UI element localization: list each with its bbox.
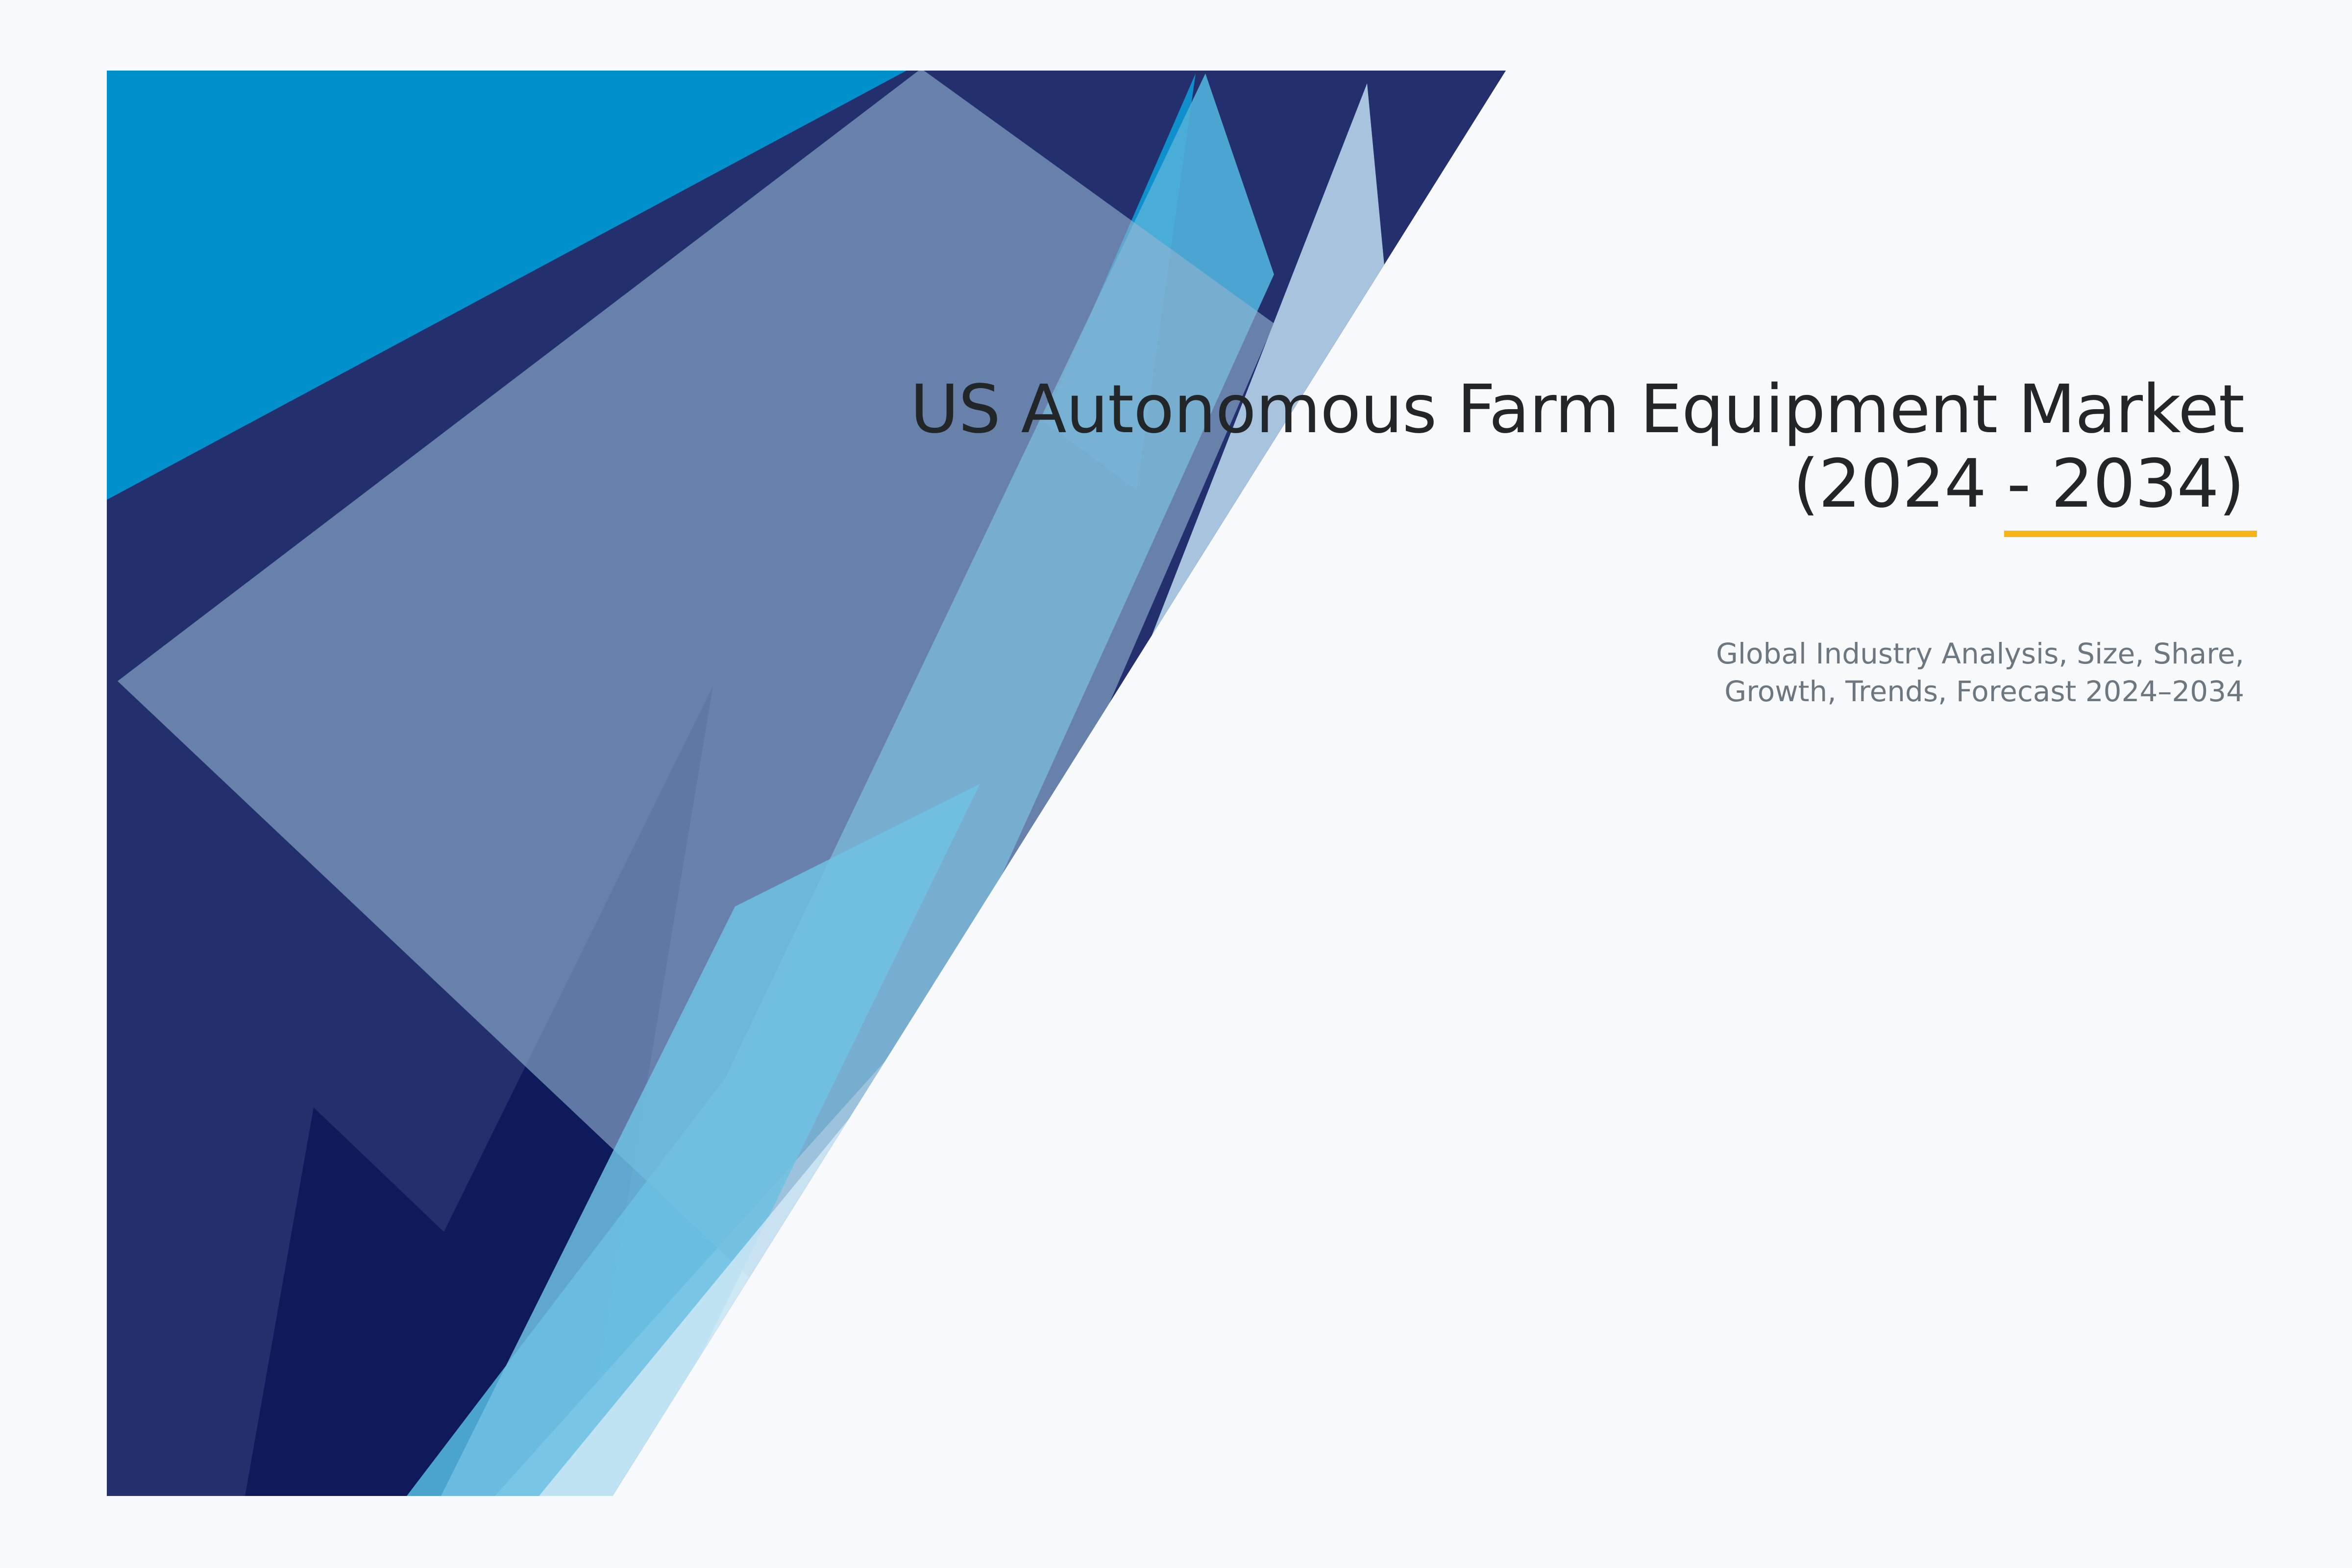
shape-light-cyan-ribbon bbox=[407, 73, 1274, 1496]
shape-mid-blue-ribbon-bottom bbox=[441, 784, 980, 1496]
page-title-line-1: US Autonomous Farm Equipment Market bbox=[910, 371, 2244, 448]
page-subtitle: Global Industry Analysis, Size, Share,Gr… bbox=[1421, 635, 2244, 710]
shape-deep-navy-spike bbox=[314, 686, 713, 1496]
page-title-line-2: (2024 - 2034) bbox=[1793, 445, 2244, 523]
shape-pale-blue-ribbon bbox=[495, 83, 1392, 1496]
abstract-geometric-artwork bbox=[0, 0, 2352, 1568]
shape-soft-light-edge bbox=[539, 853, 1107, 1496]
shape-navy-wedge bbox=[107, 71, 1506, 1496]
title-accent-underline bbox=[2004, 531, 2257, 537]
shape-deep-navy-lower-mass bbox=[245, 1107, 720, 1496]
cover-page: US Autonomous Farm Equipment Market(2024… bbox=[0, 0, 2352, 1568]
shape-cyan-base bbox=[107, 71, 1528, 1501]
page-subtitle-line-1: Global Industry Analysis, Size, Share, bbox=[1716, 637, 2244, 670]
page-subtitle-line-2: Growth, Trends, Forecast 2024–2034 bbox=[1724, 675, 2244, 708]
page-title: US Autonomous Farm Equipment Market(2024… bbox=[686, 372, 2244, 522]
subtitle-block: Global Industry Analysis, Size, Share,Gr… bbox=[1421, 635, 2244, 710]
shape-steel-blue-panel bbox=[118, 69, 1274, 1352]
title-block: US Autonomous Farm Equipment Market(2024… bbox=[686, 372, 2244, 522]
